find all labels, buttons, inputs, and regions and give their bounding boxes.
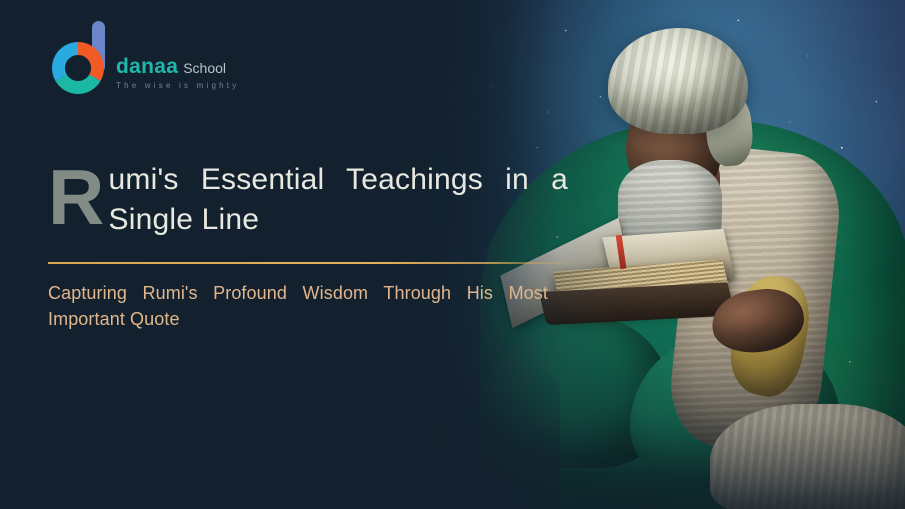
- brand-suffix: School: [183, 61, 226, 75]
- page-title-text: umi's Essential Teachings in a Single Li…: [109, 163, 568, 236]
- brand-tagline: The wise is mighty: [116, 82, 239, 90]
- gold-divider: [48, 262, 578, 264]
- drop-cap-letter: R: [48, 164, 105, 230]
- hero-banner: danaa School The wise is mighty Rumi's E…: [0, 0, 905, 509]
- brand-logo[interactable]: danaa School The wise is mighty: [48, 20, 239, 96]
- brand-wordmark: danaa School The wise is mighty: [116, 56, 239, 96]
- page-subtitle: Capturing Rumi's Profound Wisdom Through…: [48, 280, 548, 332]
- hero-text-block: Rumi's Essential Teachings in a Single L…: [48, 160, 568, 332]
- brand-name: danaa: [116, 56, 178, 77]
- brand-title-row: danaa School: [116, 56, 239, 77]
- danaa-d-ring-logo-icon: [48, 20, 112, 96]
- page-title: Rumi's Essential Teachings in a Single L…: [48, 160, 568, 240]
